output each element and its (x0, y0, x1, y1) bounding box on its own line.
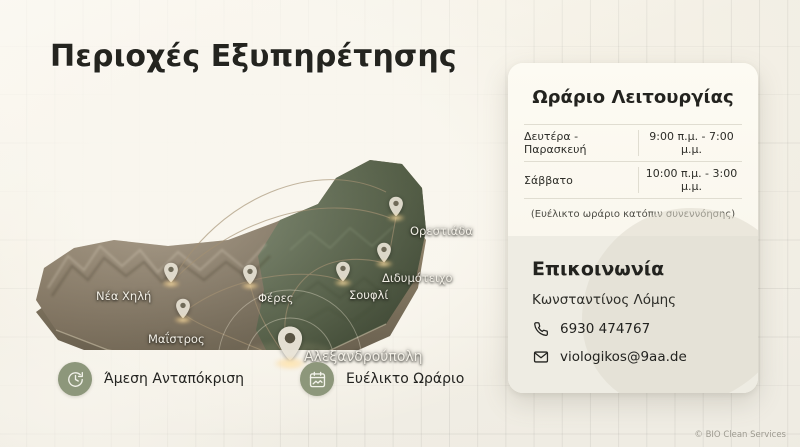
service-area-map[interactable]: Ορεστιάδα Διδυμότειχο Σουφλί Φέρες (18, 100, 448, 350)
calendar-icon (300, 362, 334, 396)
pin-glow (158, 278, 184, 289)
contact-person: Κωνσταντίνος Λόμης (508, 292, 758, 320)
table-row: Δευτέρα - Παρασκευή 9:00 π.μ. - 7:00 μ.μ… (524, 124, 742, 161)
info-card: Ωράριο Λειτουργίας Δευτέρα - Παρασκευή 9… (508, 63, 758, 393)
map-illustration (18, 100, 448, 350)
map-pin-didymoteicho[interactable] (376, 242, 392, 263)
map-pin-feres[interactable] (242, 264, 258, 285)
map-label-soufli: Σουφλί (349, 288, 388, 302)
contact-section: Επικοινωνία Κωνσταντίνος Λόμης 6930 4747… (508, 236, 758, 393)
map-label-orestiada: Ορεστιάδα (410, 224, 473, 238)
map-label-feres: Φέρες (258, 291, 294, 305)
feature-badges: Άμεση Ανταπόκριση Ευέλικτο Ωράριο (58, 362, 464, 396)
pin-glow (371, 258, 397, 269)
badge-label: Ευέλικτο Ωράριο (346, 371, 464, 387)
contact-phone-row[interactable]: 6930 474767 (508, 320, 758, 348)
map-pin-nea-chili[interactable] (163, 262, 179, 283)
poster-canvas: Περιοχές Εξυπηρέτησης (0, 0, 800, 447)
map-pin-soufli[interactable] (335, 261, 351, 282)
contact-heading: Επικοινωνία (508, 236, 758, 292)
map-label-didymoteicho: Διδυμότειχο (382, 271, 453, 285)
badge-immediate-response[interactable]: Άμεση Ανταπόκριση (58, 362, 244, 396)
hours-heading: Ωράριο Λειτουργίας (508, 63, 758, 124)
hours-day: Δευτέρα - Παρασκευή (524, 130, 638, 156)
clock-arrow-icon (58, 362, 92, 396)
copyright-footer: © BIO Clean Services (694, 430, 786, 440)
contact-email: viologikos@9aa.de (560, 349, 687, 365)
map-label-maistros: Μαΐστρος (148, 332, 205, 346)
map-pin-alexandroupoli[interactable] (276, 325, 304, 362)
page-title: Περιοχές Εξυπηρέτησης (50, 39, 457, 74)
hours-time: 9:00 π.μ. - 7:00 μ.μ. (639, 130, 742, 156)
phone-icon (532, 320, 549, 337)
hours-section: Ωράριο Λειτουργίας Δευτέρα - Παρασκευή 9… (508, 63, 758, 236)
pin-glow (170, 314, 196, 325)
map-pin-maistros[interactable] (175, 298, 191, 319)
pin-glow (383, 212, 409, 223)
contact-email-row[interactable]: viologikos@9aa.de (508, 348, 758, 376)
hours-day: Σάββατο (524, 174, 638, 187)
pin-glow (330, 277, 356, 288)
badge-label: Άμεση Ανταπόκριση (104, 371, 244, 387)
table-row: Σάββατο 10:00 π.μ. - 3:00 μ.μ. (524, 161, 742, 199)
hours-table: Δευτέρα - Παρασκευή 9:00 π.μ. - 7:00 μ.μ… (524, 124, 742, 199)
map-label-nea-chili: Νέα Χηλή (96, 289, 151, 303)
envelope-icon (532, 348, 549, 365)
hours-time: 10:00 π.μ. - 3:00 μ.μ. (639, 167, 742, 193)
map-pin-orestiada[interactable] (388, 196, 404, 217)
contact-phone: 6930 474767 (560, 321, 650, 337)
badge-flexible-hours[interactable]: Ευέλικτο Ωράριο (300, 362, 464, 396)
pin-glow (237, 280, 263, 291)
